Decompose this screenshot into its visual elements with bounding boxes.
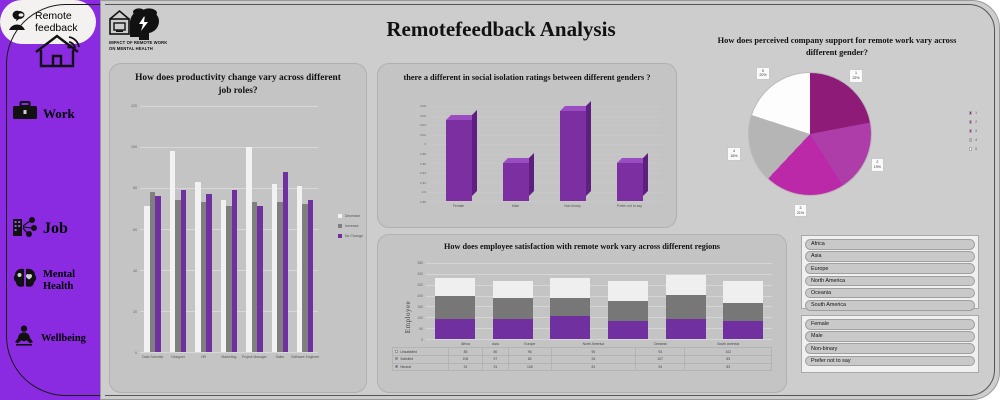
table-cell: 91 [449,363,483,371]
legend-label: 3 [975,129,977,133]
slicer-item-prefer-not-to-say[interactable]: Prefer not to say [805,356,975,367]
table-cell: 80 [482,348,508,356]
y-axis-tick: 80 [133,186,137,190]
x-axis-tick: Non-binary [564,204,581,208]
segment-satisfied[interactable] [666,295,706,318]
legend-item[interactable]: 2 [969,120,977,124]
y-axis-tick: 2.9 [422,190,426,194]
pie-slice-percent: 22% [852,76,859,81]
y-axis-tick: 3.06 [420,114,426,118]
sidebar-item-job[interactable]: Job [4,212,96,247]
isolation-bars: FemaleMaleNon-binaryPrefer not to say [430,106,658,201]
legend-item[interactable]: Decrease [338,214,363,218]
regions-plot-area: 050100150200250300350 [426,263,772,339]
slicer-item-africa[interactable]: Africa [805,239,975,250]
legend-label: 4 [975,138,977,142]
y-axis-tick: 3.08 [420,104,426,108]
table-cell: 96 [508,348,551,356]
sidebar: Work Remote feedback [0,0,100,400]
bar-group[interactable]: HR [191,106,216,352]
legend-label: 5 [975,147,977,151]
brand-logo: IMPACT OF REMOTE WORK ON MENTAL HEALTH [109,7,171,55]
bar-group[interactable] [599,263,657,339]
meditation-icon [12,324,36,353]
bar-female[interactable] [446,120,472,201]
y-axis-tick: 3.04 [420,123,426,127]
chart-title: How does employee satisfaction with remo… [388,242,776,251]
table-cell: 83 [685,355,772,363]
y-axis-tick: 100 [131,145,137,149]
y-axis-tick: 20 [133,310,137,314]
segment-satisfied[interactable] [550,298,590,316]
legend-item[interactable]: No Change [338,234,363,238]
regions-data-table: AfricaAsiaEuropeNorth AmericaOceaniaSout… [392,341,772,371]
legend-item[interactable]: 4 [969,138,977,142]
legend-swatch [969,129,973,133]
bar-group[interactable] [541,263,599,339]
chart-title: How does productivity change vary across… [128,72,348,97]
legend-item[interactable]: 1 [969,111,977,115]
segment-unsatisfied[interactable] [666,275,706,295]
legend-swatch [969,111,973,115]
dashboard-canvas: IMPACT OF REMOTE WORK ON MENTAL HEALTH R… [100,0,1000,400]
bar-no-change[interactable] [257,206,263,352]
chart-title: How does perceived company support for r… [703,35,971,59]
table-cell: 107 [635,355,685,363]
table-cell: 83 [685,363,772,371]
stacked-bar[interactable] [493,281,533,339]
segment-satisfied[interactable] [493,298,533,319]
slicer-item-non-binary[interactable]: Non-binary [805,343,975,354]
home-wifi-icon [32,30,82,75]
y-axis-tick: 60 [133,228,137,232]
sidebar-item-label: Wellbeing [41,333,86,344]
slicer-item-female[interactable]: Female [805,319,975,330]
chart-panel-regions: How does employee satisfaction with remo… [377,234,787,393]
legend-label: Increase [345,224,359,228]
bar-group[interactable]: Male [487,106,544,201]
pie-slice-percent: 19% [874,165,881,170]
column-header: Europe [508,341,551,348]
briefcase-icon [12,100,38,127]
bar-prefer-not-to-say[interactable] [617,163,643,201]
row-header: Satisfied [393,355,449,363]
legend-swatch [338,234,342,238]
legend-swatch [338,214,342,218]
segment-satisfied[interactable] [723,303,763,321]
segment-neutral[interactable] [493,319,533,339]
legend-swatch [969,120,973,124]
y-axis-tick: 40 [133,269,137,273]
y-axis-tick: 2.96 [420,162,426,166]
segment-satisfied[interactable] [608,301,648,321]
pie-chart[interactable] [749,73,871,195]
brain-icon [12,266,38,295]
productivity-plot-area: 020406080100120Data ScientistDesignerHRM… [140,106,318,352]
stacked-bar[interactable] [550,278,590,339]
gridline: 0 [426,339,772,340]
bar-groups: Data ScientistDesignerHRMarketingProject… [140,106,318,352]
bar-no-change[interactable] [206,194,212,352]
segment-satisfied[interactable] [435,296,475,319]
legend-label: 2 [975,120,977,124]
x-axis-tick: Female [453,204,464,208]
table-cell: 91 [482,363,508,371]
sidebar-item-mental-health[interactable]: Mental Health [4,262,96,299]
chart-panel-social-isolation: there a different in social isolation ra… [377,63,677,228]
stacked-bars [426,263,772,339]
table-corner [393,341,449,348]
legend-label: No Change [345,234,363,238]
y-axis-tick: 200 [417,294,423,298]
chart-panel-productivity: How does productivity change vary across… [109,63,367,393]
page-title: Remotefeedback Analysis [301,17,701,42]
pie-legend: 12345 [969,111,977,151]
productivity-legend: DecreaseIncreaseNo Change [338,214,363,238]
pie-slice-label: 321% [794,204,807,218]
stacked-bar[interactable] [666,275,706,339]
y-axis-tick: 250 [417,283,423,287]
table-cell: 81 [551,363,635,371]
sidebar-item-label: Work [43,107,75,121]
table-cell: 94 [551,355,635,363]
sidebar-item-work[interactable]: Work [4,96,96,131]
pie-slice-label: 520% [756,67,769,81]
sidebar-item-wellbeing[interactable]: Wellbeing [4,320,96,357]
legend-item[interactable]: Increase [338,224,363,228]
chart-panel-company-support: How does perceived company support for r… [687,31,987,229]
slicer-item-asia[interactable]: Asia [805,251,975,262]
table-header-row: AfricaAsiaEuropeNorth AmericaOceaniaSout… [393,341,772,348]
table-cell: 105 [508,363,551,371]
column-header: Africa [449,341,483,348]
row-header: Neutral [393,363,449,371]
bar-no-change[interactable] [181,190,187,352]
pie-slice-percent: 20% [759,73,766,78]
legend-label: Decrease [345,214,360,218]
slicer-item-south-america[interactable]: South America [805,300,975,311]
segment-unsatisfied[interactable] [493,281,533,298]
y-axis-tick: 100 [417,316,423,320]
column-header: Oceania [635,341,685,348]
chart-title: there a different in social isolation ra… [392,72,662,84]
slicer-item-europe[interactable]: Europe [805,263,975,274]
y-axis-tick: 2.94 [420,171,426,175]
segment-neutral[interactable] [550,316,590,339]
segment-neutral[interactable] [608,321,648,339]
slicer-item-male[interactable]: Male [805,331,975,342]
table-cell: 85 [449,348,483,356]
segment-unsatisfied[interactable] [435,278,475,296]
series-swatch [395,350,398,353]
legend-label: 1 [975,111,977,115]
row-header: Unsatisfied [393,348,449,356]
bar-group[interactable]: Designer [165,106,190,352]
y-axis-label: Employee [404,301,412,333]
y-axis-tick: 2.92 [420,181,426,185]
bar-group[interactable] [484,263,542,339]
slicer-item-oceania[interactable]: Oceania [805,288,975,299]
stacked-bar[interactable] [723,281,763,339]
segment-unsatisfied[interactable] [723,281,763,303]
legend-item[interactable]: 3 [969,129,977,133]
table-cell: 102 [685,348,772,356]
bar-group[interactable]: Software Engineer [293,106,318,352]
table-row: Neutral9191105819483 [393,363,772,371]
series-swatch [395,357,398,360]
table-cell: 93 [635,348,685,356]
bar-no-change[interactable] [155,196,161,352]
pie-slice-label: 219% [871,158,884,172]
gridline: 2.88 [428,201,662,202]
segment-unsatisfied[interactable] [608,281,648,301]
column-header: Asia [482,341,508,348]
table-cell: 82 [508,355,551,363]
bar-group[interactable]: Project Manager [242,106,267,352]
bar-group[interactable]: Female [430,106,487,201]
bar-no-change[interactable] [232,190,238,352]
bar-non-binary[interactable] [560,111,586,201]
bar-group[interactable]: Marketing [216,106,241,352]
column-header: South America [685,341,772,348]
bar-group[interactable] [426,263,484,339]
slicer-item-north-america[interactable]: North America [805,276,975,287]
legend-swatch [969,138,973,142]
bar-no-change[interactable] [308,200,314,352]
gridline: 0 [140,352,318,353]
legend-swatch [338,224,342,228]
table-cell: 97 [482,355,508,363]
legend-swatch [969,147,973,151]
table-row: Unsatisfied8580969093102 [393,348,772,356]
pie-slice-label: 418% [727,147,740,161]
y-axis-tick: 150 [417,305,423,309]
segment-neutral[interactable] [435,319,475,339]
sidebar-item-label: Mental Health [43,269,92,291]
x-axis-tick: Male [512,204,519,208]
segment-neutral[interactable] [723,321,763,339]
sidebar-item-home[interactable] [18,26,92,79]
y-axis-tick: 2.88 [420,200,426,204]
y-axis-tick: 0 [135,351,137,355]
bar-group[interactable]: Sales [267,106,292,352]
series-swatch [395,365,398,368]
segment-neutral[interactable] [666,319,706,339]
y-axis-tick: 300 [417,272,423,276]
bar-no-change[interactable] [283,172,289,352]
table-cell: 106 [449,355,483,363]
bar-group[interactable] [714,263,772,339]
bar-male[interactable] [503,163,529,201]
pie-slice-percent: 21% [797,211,804,216]
sidebar-item-label: Job [43,221,68,238]
table-row: Satisfied10697829410783 [393,355,772,363]
y-axis-tick: 2.98 [420,152,426,156]
legend-item[interactable]: 5 [969,147,977,151]
segment-unsatisfied[interactable] [550,278,590,299]
gender-slicer[interactable]: FemaleMaleNon-binaryPrefer not to say [801,315,979,373]
stacked-bar[interactable] [435,278,475,339]
pie-chart-wrap: 122%219%321%418%520% [749,73,871,195]
isolation-plot-area: 3.083.063.043.0232.982.962.942.922.92.88… [418,106,662,201]
y-axis-tick: 50 [419,327,423,331]
region-slicer[interactable]: AfricaAsiaEuropeNorth AmericaOceaniaSout… [801,235,979,309]
y-axis-tick: 3.02 [420,133,426,137]
bar-group[interactable]: Prefer not to say [601,106,658,201]
table-cell: 94 [635,363,685,371]
logo-text: IMPACT OF REMOTE WORK ON MENTAL HEALTH [109,40,171,51]
pie-slice-label: 122% [849,69,862,83]
job-network-icon [12,216,38,243]
y-axis-tick: 350 [417,261,423,265]
y-axis-tick: 3 [424,142,426,146]
stacked-bar[interactable] [608,281,648,339]
bar-group[interactable]: Data Scientist [140,106,165,352]
x-axis-tick: Prefer not to say [617,204,642,208]
column-header: North America [551,341,635,348]
y-axis-tick: 120 [131,104,137,108]
x-axis-tick: Software Engineer [290,355,320,359]
bar-group[interactable]: Non-binary [544,106,601,201]
table-cell: 90 [551,348,635,356]
bar-group[interactable] [657,263,715,339]
pie-slice-percent: 18% [730,154,737,159]
